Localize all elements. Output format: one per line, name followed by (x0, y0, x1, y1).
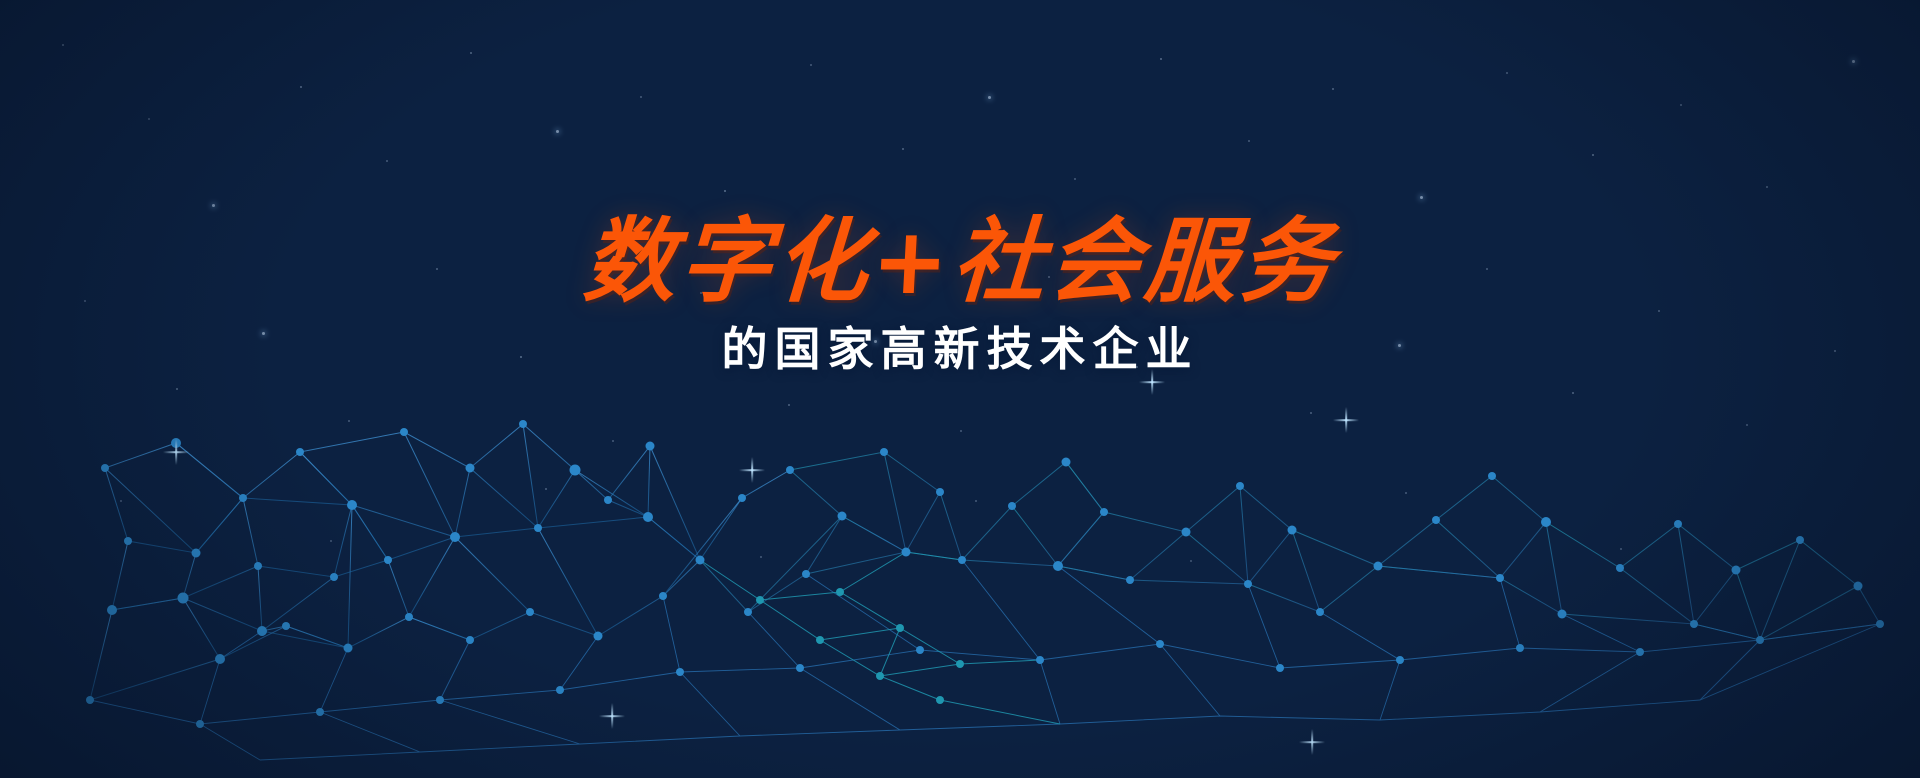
banner-copy: 数字化+社会服务 的国家高新技术企业 (0, 215, 1920, 376)
banner-subheadline: 的国家高新技术企业 (0, 323, 1920, 376)
hero-banner: 数字化+社会服务 的国家高新技术企业 (0, 0, 1920, 778)
banner-headline: 数字化+社会服务 (0, 215, 1920, 309)
constellation-network-graphic (0, 0, 1920, 778)
